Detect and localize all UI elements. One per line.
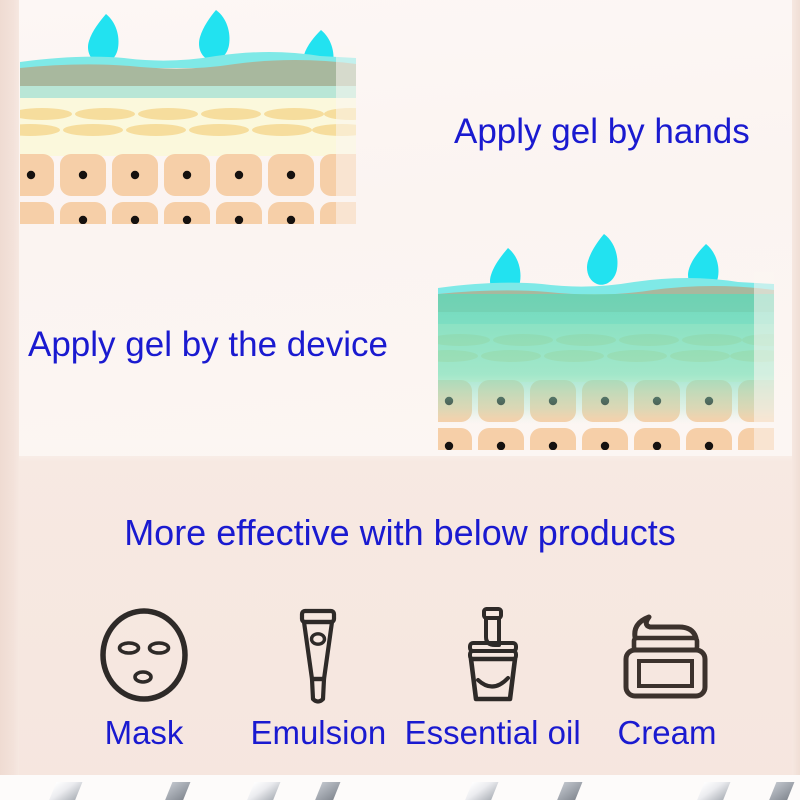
product-item-essential-oil[interactable]: Essential oil [408,600,578,752]
skin-cell-row [20,154,356,196]
skin-cell-row [438,428,774,450]
skin-diagram-hands-svg [438,232,774,450]
strip-shape [164,782,191,800]
strip-shape [314,782,341,800]
product-list: Mask Emulsion [19,600,792,775]
product-label: Emulsion [250,714,386,752]
dropper-bottle-icon [453,600,533,705]
absorption-tint-overlay [438,294,774,424]
product-label: Essential oil [405,714,581,752]
tube-icon [283,600,353,705]
skin-cross-section-hands [438,232,774,450]
promo-infographic: Apply gel by hands Apply gel by the devi… [0,0,800,800]
strip-shape [464,782,499,800]
skin-cross-section-device [20,6,356,224]
bottom-photo-strip [0,775,800,800]
product-label: Mask [105,714,184,752]
strip-shape [246,782,281,800]
caption-apply-by-device: Apply gel by the device [28,325,388,365]
product-item-cream[interactable]: Cream [582,600,752,752]
left-edge-strip [0,0,19,775]
cream-jar-icon [617,600,717,705]
skin-cell-row [20,202,356,224]
strip-shape [48,782,83,800]
water-droplet-icon [88,14,118,64]
water-droplet-icon [199,10,229,61]
caption-apply-by-hands: Apply gel by hands [454,112,750,152]
product-item-emulsion[interactable]: Emulsion [233,600,403,752]
water-droplet-icon [587,234,617,285]
product-item-mask[interactable]: Mask [59,600,229,752]
strip-shape [556,782,583,800]
right-edge-strip [792,0,800,775]
strip-shape [768,782,795,800]
section-headline: More effective with below products [0,512,800,554]
strip-shape [696,782,731,800]
face-mask-icon [96,600,192,705]
skin-diagram-device-svg [20,6,356,224]
product-label: Cream [617,714,716,752]
